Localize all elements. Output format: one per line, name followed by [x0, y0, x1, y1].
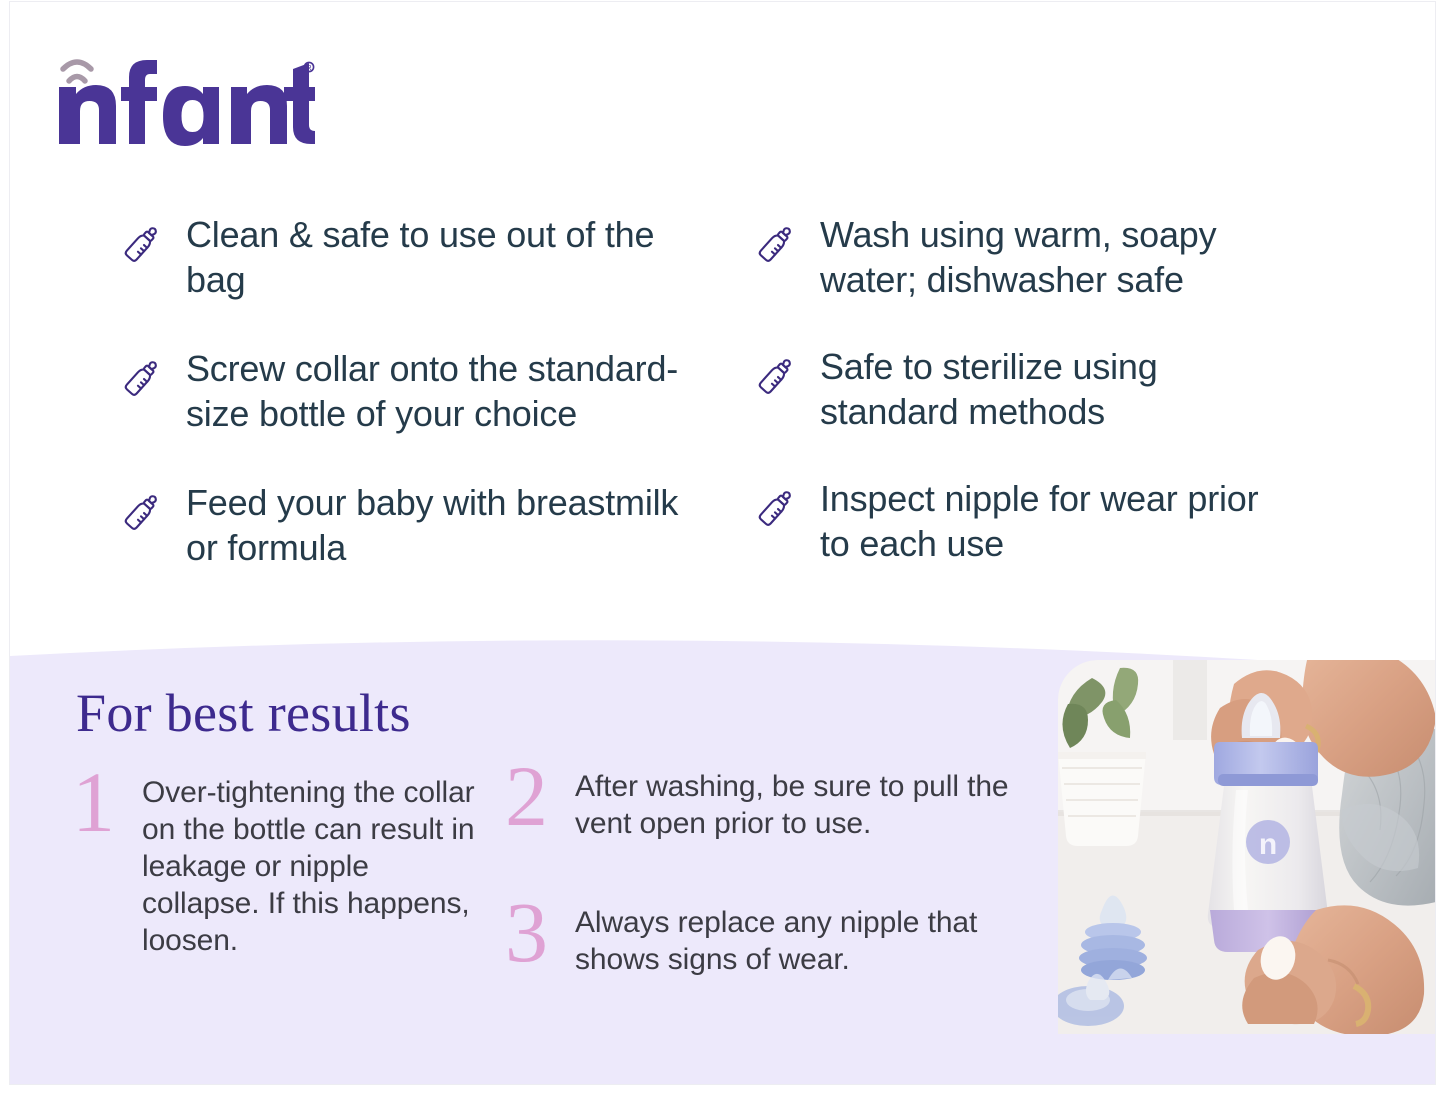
feature-item: Safe to sterilize using standard methods: [752, 344, 1297, 434]
feature-text: Clean & safe to use out of the bag: [186, 212, 686, 302]
tip-item: 3 Always replace any nipple that shows s…: [505, 896, 1050, 978]
tip-text: After washing, be sure to pull the vent …: [575, 760, 1045, 842]
best-results-title: For best results: [76, 684, 411, 742]
product-info-sheet: R Clean & safe to use out of t: [0, 0, 1445, 1096]
tip-text: Over-tightening the collar on the bottle…: [142, 766, 482, 959]
feature-text: Inspect nipple for wear prior to each us…: [820, 476, 1290, 566]
tip-item: 1 Over-tightening the collar on the bott…: [72, 766, 492, 959]
feature-text: Feed your baby with breastmilk or formul…: [186, 480, 686, 570]
feature-text: Safe to sterilize using standard methods: [820, 344, 1290, 434]
tip-number: 1: [72, 766, 128, 838]
features-section: Clean & safe to use out of the bag Screw…: [0, 212, 1445, 632]
baby-bottle-icon: [752, 220, 798, 266]
feature-text: Wash using warm, soapy water; dishwasher…: [820, 212, 1290, 302]
baby-bottle-icon: [118, 354, 164, 400]
hands-holding-baby-bottle-photo: n: [1058, 660, 1436, 1034]
feature-item: Inspect nipple for wear prior to each us…: [752, 476, 1297, 566]
tip-number: 3: [505, 896, 561, 968]
wifi-arcs-icon: [63, 62, 91, 81]
baby-bottle-icon: [118, 488, 164, 534]
svg-text:R: R: [306, 65, 311, 72]
feature-item: Feed your baby with breastmilk or formul…: [118, 480, 698, 570]
baby-bottle-icon: [752, 352, 798, 398]
tip-item: 2 After washing, be sure to pull the ven…: [505, 760, 1050, 842]
nfant-logo: R: [55, 47, 315, 147]
bottle-logo-letter: n: [1259, 828, 1277, 861]
feature-item: Screw collar onto the standard-size bott…: [118, 346, 698, 436]
features-right-column: Wash using warm, soapy water; dishwasher…: [752, 212, 1297, 608]
tip-text: Always replace any nipple that shows sig…: [575, 896, 1045, 978]
baby-bottle-icon: [118, 220, 164, 266]
tip-number: 2: [505, 760, 561, 832]
baby-bottle-icon: [752, 484, 798, 530]
feature-item: Wash using warm, soapy water; dishwasher…: [752, 212, 1297, 302]
feature-item: Clean & safe to use out of the bag: [118, 212, 698, 302]
feature-text: Screw collar onto the standard-size bott…: [186, 346, 686, 436]
features-left-column: Clean & safe to use out of the bag Screw…: [118, 212, 698, 614]
